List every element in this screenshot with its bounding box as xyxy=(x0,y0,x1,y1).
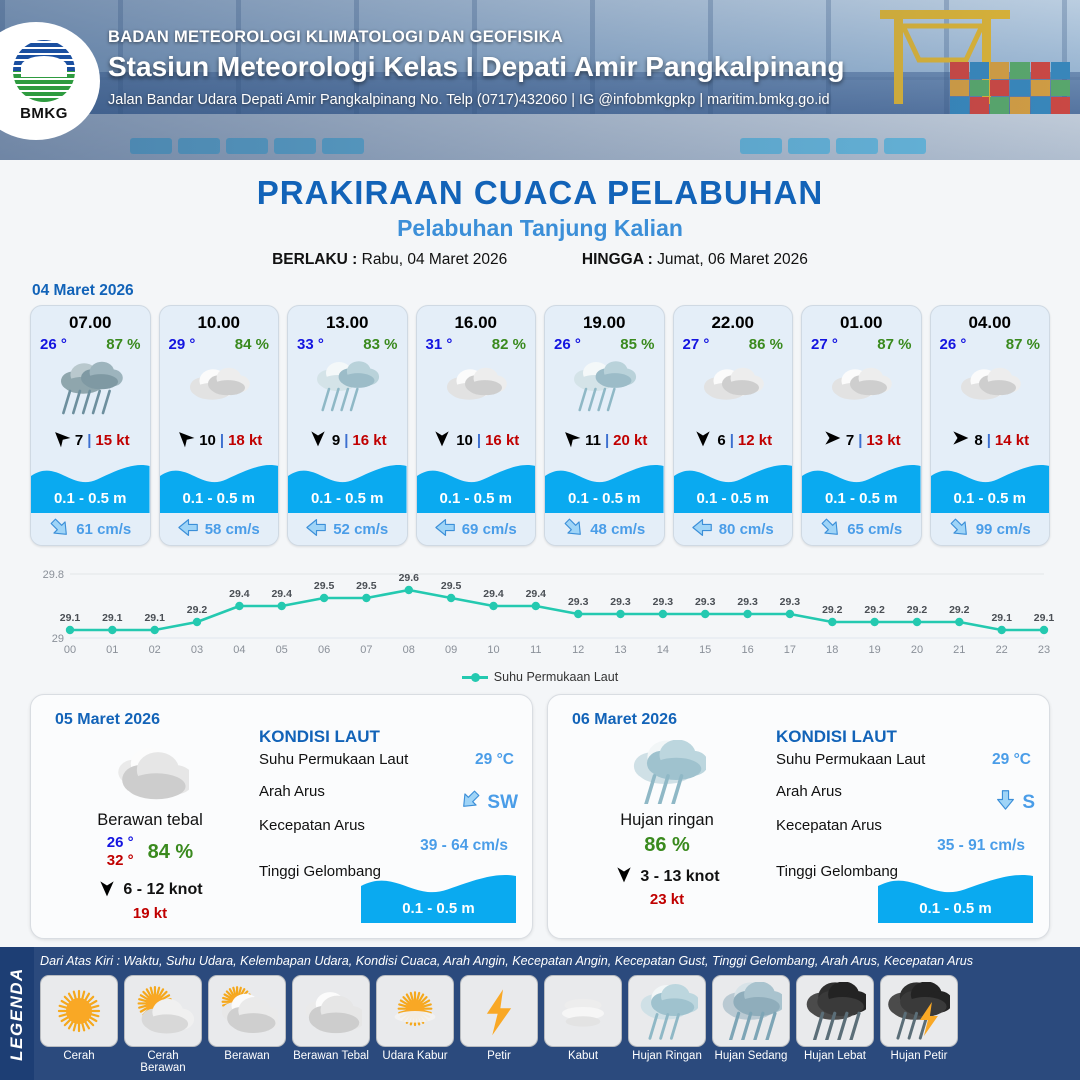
svg-text:29.2: 29.2 xyxy=(907,604,928,616)
card-wind-speed: 10 xyxy=(456,432,473,449)
legend-udara-kabur-icon xyxy=(376,975,454,1047)
hourly-card: 13.00 33 ° 83 % 9 | 16 kt xyxy=(287,305,408,546)
sst-chart: 29.82929.10029.10129.10229.20329.40429.4… xyxy=(26,556,1054,668)
card-humidity: 85 % xyxy=(620,336,654,353)
current-speed-row: Kecepatan Arus 35 - 91 cm/s xyxy=(776,817,1035,863)
card-temperature: 27 ° xyxy=(683,336,710,353)
card-humidity: 82 % xyxy=(492,336,526,353)
svg-text:29.3: 29.3 xyxy=(610,596,631,608)
card-wave: 0.1 - 0.5 m xyxy=(802,457,921,513)
card-wave: 0.1 - 0.5 m xyxy=(288,457,407,513)
station-name: Stasiun Meteorologi Kelas I Depati Amir … xyxy=(108,51,844,83)
panel-condition: Hujan ringan xyxy=(562,811,772,830)
sst-row: Suhu Permukaan Laut 29 °C xyxy=(259,751,518,783)
svg-text:01: 01 xyxy=(106,644,118,656)
svg-text:19: 19 xyxy=(868,644,880,656)
daily-forecast-panels: 05 Maret 2026 Berawan tebal 26 ° 32 ° 84… xyxy=(0,684,1080,939)
hourly-date-label: 04 Maret 2026 xyxy=(32,282,1080,300)
svg-text:29.4: 29.4 xyxy=(229,588,250,600)
card-current-speed: 48 cm/s xyxy=(590,521,645,538)
svg-text:29: 29 xyxy=(52,633,64,645)
wind-separator: | xyxy=(220,432,224,449)
panel-wind-direction-arrow-icon xyxy=(614,864,634,889)
page-title: PRAKIRAAN CUACA PELABUHAN xyxy=(0,174,1080,212)
wind-direction-arrow-icon xyxy=(822,428,842,452)
card-wave-height: 0.1 - 0.5 m xyxy=(931,490,1050,507)
card-current-speed: 80 cm/s xyxy=(719,521,774,538)
current-speed-value: 35 - 91 cm/s xyxy=(937,837,1025,855)
card-temp-hum-row: 29 ° 84 % xyxy=(160,333,279,353)
panel-current-arrow-icon xyxy=(995,789,1016,816)
panel-wind-range: 6 - 12 knot xyxy=(123,881,202,899)
svg-text:14: 14 xyxy=(657,644,669,656)
panel-sea-conditions: KONDISI LAUT Suhu Permukaan Laut 29 °C A… xyxy=(259,727,518,893)
sst-value: 29 °C xyxy=(992,751,1031,769)
card-weather-hujan-ringan-icon xyxy=(545,353,664,425)
legend-item-label: Kabut xyxy=(544,1050,622,1062)
svg-text:09: 09 xyxy=(445,644,457,656)
wind-direction-arrow-icon xyxy=(561,428,581,452)
card-wind-gust: 12 kt xyxy=(738,432,772,449)
card-weather-berawan-icon xyxy=(674,353,793,425)
current-speed-value: 39 - 64 cm/s xyxy=(420,837,508,855)
legend-note: Dari Atas Kiri : Waktu, Suhu Udara, Kele… xyxy=(40,954,973,968)
legend-hujan-ringan-icon xyxy=(628,975,706,1047)
card-time: 07.00 xyxy=(31,306,150,333)
panel-weather-block: Hujan ringan 86 % 3 - 13 knot 23 kt xyxy=(562,739,772,908)
card-current-speed: 99 cm/s xyxy=(976,521,1031,538)
legend-kabut-icon xyxy=(544,975,622,1047)
sst-row: Suhu Permukaan Laut 29 °C xyxy=(776,751,1035,783)
card-wind-row: 10 | 16 kt xyxy=(417,425,536,455)
panel-temp-range: 26 ° 32 ° xyxy=(107,834,134,871)
svg-text:29.4: 29.4 xyxy=(483,588,504,600)
panel-wave-height: 0.1 - 0.5 m xyxy=(361,900,516,917)
card-temperature: 29 ° xyxy=(169,336,196,353)
panel-wave-graphic: 0.1 - 0.5 m xyxy=(361,865,516,923)
card-wind-gust: 14 kt xyxy=(995,432,1029,449)
svg-text:21: 21 xyxy=(953,644,965,656)
bmkg-logo-emblem-icon xyxy=(13,40,75,102)
valid-until-value: Jumat, 06 Maret 2026 xyxy=(657,251,808,268)
card-wave-height: 0.1 - 0.5 m xyxy=(160,490,279,507)
panel-temp-humidity: 26 ° 32 ° 84 % xyxy=(45,834,255,871)
card-humidity: 87 % xyxy=(1006,336,1040,353)
panel-condition: Berawan tebal xyxy=(45,811,255,830)
legend-item-label: Hujan Petir xyxy=(880,1050,958,1062)
card-wind-speed: 7 xyxy=(75,432,83,449)
card-temp-hum-row: 27 ° 86 % xyxy=(674,333,793,353)
card-wind-speed: 7 xyxy=(846,432,854,449)
card-wind-speed: 9 xyxy=(332,432,340,449)
legend-bar: LEGENDA Dari Atas Kiri : Waktu, Suhu Uda… xyxy=(0,947,1080,1080)
card-wind-speed: 8 xyxy=(974,432,982,449)
legend-berawan-tebal-icon xyxy=(292,975,370,1047)
current-direction-label: Arah Arus xyxy=(259,783,325,800)
agency-name: BADAN METEOROLOGI KLIMATOLOGI DAN GEOFIS… xyxy=(108,28,844,47)
legend-hujan-sedang-icon xyxy=(712,975,790,1047)
wind-direction-arrow-icon xyxy=(308,428,328,452)
current-direction-label: Arah Arus xyxy=(776,783,842,800)
current-direction-value: S xyxy=(995,789,1035,816)
svg-text:29.4: 29.4 xyxy=(271,588,292,600)
legend-item: Berawan Tebal xyxy=(292,975,370,1074)
card-wind-gust: 13 kt xyxy=(866,432,900,449)
card-wave-height: 0.1 - 0.5 m xyxy=(288,490,407,507)
svg-text:03: 03 xyxy=(191,644,203,656)
legend-item-label: Hujan Lebat xyxy=(796,1050,874,1062)
card-temp-hum-row: 33 ° 83 % xyxy=(288,333,407,353)
card-current-row: 65 cm/s xyxy=(802,513,921,545)
panel-weather-hujan-ringan-icon xyxy=(562,739,772,805)
card-current-row: 69 cm/s xyxy=(417,513,536,545)
card-wave: 0.1 - 0.5 m xyxy=(931,457,1050,513)
card-humidity: 84 % xyxy=(235,336,269,353)
card-humidity: 87 % xyxy=(106,336,140,353)
legend-item: Hujan Petir xyxy=(880,975,958,1074)
card-wave: 0.1 - 0.5 m xyxy=(417,457,536,513)
card-wind-gust: 16 kt xyxy=(352,432,386,449)
wind-separator: | xyxy=(477,432,481,449)
page-subtitle: Pelabuhan Tanjung Kalian xyxy=(0,215,1080,242)
current-direction-arrow-icon xyxy=(178,517,199,542)
svg-text:07: 07 xyxy=(360,644,372,656)
legend-item: Udara Kabur xyxy=(376,975,454,1074)
card-temp-hum-row: 31 ° 82 % xyxy=(417,333,536,353)
bmkg-logo-text: BMKG xyxy=(20,105,68,122)
legend-cerah-berawan-icon xyxy=(124,975,202,1047)
panel-date: 05 Maret 2026 xyxy=(55,711,160,729)
svg-text:06: 06 xyxy=(318,644,330,656)
card-time: 22.00 xyxy=(674,306,793,333)
current-speed-label: Kecepatan Arus xyxy=(776,817,882,834)
card-current-row: 58 cm/s xyxy=(160,513,279,545)
page-header: BMKG BADAN METEOROLOGI KLIMATOLOGI DAN G… xyxy=(0,0,1080,160)
current-speed-label: Kecepatan Arus xyxy=(259,817,365,834)
panel-date: 06 Maret 2026 xyxy=(572,711,677,729)
svg-text:13: 13 xyxy=(614,644,626,656)
panel-weather-berawan-tebal-icon xyxy=(45,739,255,805)
svg-text:04: 04 xyxy=(233,644,245,656)
panel-wave-height: 0.1 - 0.5 m xyxy=(878,900,1033,917)
svg-text:29.1: 29.1 xyxy=(1034,612,1054,624)
card-wave: 0.1 - 0.5 m xyxy=(160,457,279,513)
legend-berawan-icon xyxy=(208,975,286,1047)
validity-range: BERLAKU : Rabu, 04 Maret 2026 HINGGA : J… xyxy=(0,251,1080,269)
svg-text:29.2: 29.2 xyxy=(822,604,843,616)
svg-text:29.5: 29.5 xyxy=(314,580,335,592)
card-humidity: 86 % xyxy=(749,336,783,353)
card-weather-berawan-icon xyxy=(931,353,1050,425)
current-direction-row: Arah Arus S xyxy=(776,783,1035,817)
card-temperature: 26 ° xyxy=(940,336,967,353)
chart-legend-marker-icon xyxy=(462,676,488,679)
card-wave: 0.1 - 0.5 m xyxy=(31,457,150,513)
wind-separator: | xyxy=(730,432,734,449)
card-wind-gust: 20 kt xyxy=(613,432,647,449)
card-wind-gust: 18 kt xyxy=(228,432,262,449)
current-direction-arrow-icon xyxy=(692,517,713,542)
svg-text:29.6: 29.6 xyxy=(399,572,420,584)
wind-direction-arrow-icon xyxy=(950,428,970,452)
card-temperature: 31 ° xyxy=(426,336,453,353)
hourly-card: 19.00 26 ° 85 % 11 | 20 kt xyxy=(544,305,665,546)
card-weather-berawan-icon xyxy=(802,353,921,425)
card-temperature: 26 ° xyxy=(40,336,67,353)
legend-petir-icon xyxy=(460,975,538,1047)
hourly-card: 16.00 31 ° 82 % 10 | 16 kt xyxy=(416,305,537,546)
svg-text:29.2: 29.2 xyxy=(864,604,885,616)
svg-text:29.8: 29.8 xyxy=(43,569,64,581)
chart-legend-label: Suhu Permukaan Laut xyxy=(494,670,618,684)
svg-text:08: 08 xyxy=(403,644,415,656)
card-wave-height: 0.1 - 0.5 m xyxy=(802,490,921,507)
svg-text:29.3: 29.3 xyxy=(653,596,674,608)
card-time: 04.00 xyxy=(931,306,1050,333)
panel-wind: 3 - 13 knot xyxy=(562,864,772,889)
svg-text:16: 16 xyxy=(741,644,753,656)
legend-items: Cerah Cerah Berawan Berawan xyxy=(40,975,1074,1074)
wind-separator: | xyxy=(605,432,609,449)
sst-label: Suhu Permukaan Laut xyxy=(259,751,408,768)
daily-panel: 05 Maret 2026 Berawan tebal 26 ° 32 ° 84… xyxy=(30,694,533,939)
svg-text:29.5: 29.5 xyxy=(441,580,462,592)
valid-until-label: HINGGA : xyxy=(582,251,653,268)
card-time: 16.00 xyxy=(417,306,536,333)
card-weather-hujan-ringan-icon xyxy=(288,353,407,425)
valid-from-label: BERLAKU : xyxy=(272,251,357,268)
legend-item-label: Hujan Sedang xyxy=(712,1050,790,1062)
svg-text:18: 18 xyxy=(826,644,838,656)
panel-gust: 19 kt xyxy=(45,905,255,922)
hourly-forecast-cards: 07.00 26 ° 87 % 7 | 15 kt xyxy=(0,305,1080,546)
current-direction-row: Arah Arus SW xyxy=(259,783,518,817)
legend-item: Cerah Berawan xyxy=(124,975,202,1074)
legend-item: Cerah xyxy=(40,975,118,1074)
svg-text:29.3: 29.3 xyxy=(737,596,758,608)
card-wave-height: 0.1 - 0.5 m xyxy=(31,490,150,507)
svg-text:11: 11 xyxy=(530,644,541,656)
panel-temp-humidity: 86 % xyxy=(562,834,772,857)
svg-text:29.1: 29.1 xyxy=(102,612,123,624)
svg-text:23: 23 xyxy=(1038,644,1050,656)
legend-item-label: Berawan xyxy=(208,1050,286,1062)
svg-text:05: 05 xyxy=(276,644,288,656)
current-direction-arrow-icon xyxy=(563,517,584,542)
current-direction-arrow-icon xyxy=(820,517,841,542)
svg-text:29.5: 29.5 xyxy=(356,580,377,592)
legend-side-title: LEGENDA xyxy=(0,947,34,1080)
card-temp-hum-row: 27 ° 87 % xyxy=(802,333,921,353)
card-temp-hum-row: 26 ° 85 % xyxy=(545,333,664,353)
card-wave: 0.1 - 0.5 m xyxy=(674,457,793,513)
svg-text:29.4: 29.4 xyxy=(526,588,547,600)
card-wind-row: 9 | 16 kt xyxy=(288,425,407,455)
card-temperature: 33 ° xyxy=(297,336,324,353)
card-wind-speed: 10 xyxy=(199,432,216,449)
card-time: 01.00 xyxy=(802,306,921,333)
card-wind-speed: 11 xyxy=(585,432,601,449)
card-current-row: 52 cm/s xyxy=(288,513,407,545)
legend-hujan-lebat-icon xyxy=(796,975,874,1047)
card-time: 13.00 xyxy=(288,306,407,333)
legend-item: Berawan xyxy=(208,975,286,1074)
card-wind-row: 8 | 14 kt xyxy=(931,425,1050,455)
card-humidity: 83 % xyxy=(363,336,397,353)
current-direction-arrow-icon xyxy=(306,517,327,542)
card-humidity: 87 % xyxy=(877,336,911,353)
panel-wave-graphic: 0.1 - 0.5 m xyxy=(878,865,1033,923)
panel-humidity: 86 % xyxy=(644,834,690,857)
current-direction-arrow-icon xyxy=(949,517,970,542)
current-direction-arrow-icon xyxy=(435,517,456,542)
svg-text:29.3: 29.3 xyxy=(695,596,716,608)
panel-gust: 23 kt xyxy=(562,891,772,908)
current-speed-row: Kecepatan Arus 39 - 64 cm/s xyxy=(259,817,518,863)
infographic-page: BMKG BADAN METEOROLOGI KLIMATOLOGI DAN G… xyxy=(0,0,1080,1080)
wind-separator: | xyxy=(344,432,348,449)
card-current-speed: 52 cm/s xyxy=(333,521,388,538)
card-wave-height: 0.1 - 0.5 m xyxy=(674,490,793,507)
card-wind-speed: 6 xyxy=(717,432,725,449)
legend-item: Hujan Ringan xyxy=(628,975,706,1074)
card-current-speed: 61 cm/s xyxy=(76,521,131,538)
wind-direction-arrow-icon xyxy=(432,428,452,452)
card-temp-hum-row: 26 ° 87 % xyxy=(31,333,150,353)
card-current-row: 80 cm/s xyxy=(674,513,793,545)
legend-item: Kabut xyxy=(544,975,622,1074)
legend-item: Petir xyxy=(460,975,538,1074)
legend-item-label: Petir xyxy=(460,1050,538,1062)
hourly-card: 07.00 26 ° 87 % 7 | 15 kt xyxy=(30,305,151,546)
wind-separator: | xyxy=(858,432,862,449)
svg-text:29.3: 29.3 xyxy=(780,596,801,608)
card-temperature: 27 ° xyxy=(811,336,838,353)
svg-text:00: 00 xyxy=(64,644,76,656)
legend-hujan-petir-icon xyxy=(880,975,958,1047)
svg-text:29.1: 29.1 xyxy=(60,612,81,624)
panel-temp-max: 32 ° xyxy=(107,852,134,870)
card-wave-height: 0.1 - 0.5 m xyxy=(545,490,664,507)
hourly-card: 04.00 26 ° 87 % 8 | 14 kt xyxy=(930,305,1051,546)
card-wave-height: 0.1 - 0.5 m xyxy=(417,490,536,507)
sst-value: 29 °C xyxy=(475,751,514,769)
title-block: PRAKIRAAN CUACA PELABUHAN Pelabuhan Tanj… xyxy=(0,160,1080,269)
card-wind-gust: 16 kt xyxy=(485,432,519,449)
card-weather-berawan-icon xyxy=(417,353,536,425)
svg-text:15: 15 xyxy=(699,644,711,656)
card-temperature: 26 ° xyxy=(554,336,581,353)
svg-text:17: 17 xyxy=(784,644,796,656)
legend-item-label: Cerah Berawan xyxy=(124,1050,202,1074)
current-direction-arrow-icon xyxy=(49,517,70,542)
legend-cerah-icon xyxy=(40,975,118,1047)
svg-text:22: 22 xyxy=(996,644,1008,656)
card-current-row: 61 cm/s xyxy=(31,513,150,545)
svg-text:29.1: 29.1 xyxy=(144,612,165,624)
panel-temp-min: 26 ° xyxy=(107,834,134,852)
valid-from-value: Rabu, 04 Maret 2026 xyxy=(362,251,508,268)
panel-wind-direction-arrow-icon xyxy=(97,878,117,903)
svg-text:29.2: 29.2 xyxy=(187,604,208,616)
hourly-card: 01.00 27 ° 87 % 7 | 13 kt xyxy=(801,305,922,546)
sea-conditions-header: KONDISI LAUT xyxy=(259,727,518,747)
svg-text:29.1: 29.1 xyxy=(991,612,1012,624)
card-wind-row: 7 | 15 kt xyxy=(31,425,150,455)
legend-item: Hujan Sedang xyxy=(712,975,790,1074)
card-current-speed: 65 cm/s xyxy=(847,521,902,538)
legend-item-label: Berawan Tebal xyxy=(292,1050,370,1062)
panel-weather-block: Berawan tebal 26 ° 32 ° 84 % 6 - 12 knot… xyxy=(45,739,255,922)
card-weather-berawan-icon xyxy=(160,353,279,425)
svg-text:02: 02 xyxy=(149,644,161,656)
svg-text:12: 12 xyxy=(572,644,584,656)
panel-wind-range: 3 - 13 knot xyxy=(640,868,719,886)
legend-item: Hujan Lebat xyxy=(796,975,874,1074)
panel-sea-conditions: KONDISI LAUT Suhu Permukaan Laut 29 °C A… xyxy=(776,727,1035,893)
wind-direction-arrow-icon xyxy=(175,428,195,452)
wind-direction-arrow-icon xyxy=(51,428,71,452)
card-current-row: 99 cm/s xyxy=(931,513,1050,545)
panel-humidity: 84 % xyxy=(148,841,194,864)
wind-direction-arrow-icon xyxy=(693,428,713,452)
chart-legend: Suhu Permukaan Laut xyxy=(0,670,1080,684)
card-time: 10.00 xyxy=(160,306,279,333)
card-wave: 0.1 - 0.5 m xyxy=(545,457,664,513)
card-wind-row: 10 | 18 kt xyxy=(160,425,279,455)
hourly-card: 22.00 27 ° 86 % 6 | 12 kt xyxy=(673,305,794,546)
card-weather-hujan-lebat-icon xyxy=(31,353,150,425)
panel-current-arrow-icon xyxy=(460,789,481,816)
card-current-row: 48 cm/s xyxy=(545,513,664,545)
card-wind-row: 6 | 12 kt xyxy=(674,425,793,455)
card-current-speed: 58 cm/s xyxy=(205,521,260,538)
svg-text:29.3: 29.3 xyxy=(568,596,589,608)
card-current-speed: 69 cm/s xyxy=(462,521,517,538)
card-time: 19.00 xyxy=(545,306,664,333)
legend-item-label: Udara Kabur xyxy=(376,1050,454,1062)
card-wind-row: 11 | 20 kt xyxy=(545,425,664,455)
header-text-block: BADAN METEOROLOGI KLIMATOLOGI DAN GEOFIS… xyxy=(108,28,844,108)
daily-panel: 06 Maret 2026 Hujan ringan 86 % 3 - 13 k… xyxy=(547,694,1050,939)
wind-separator: | xyxy=(87,432,91,449)
legend-item-label: Cerah xyxy=(40,1050,118,1062)
svg-text:29.2: 29.2 xyxy=(949,604,970,616)
card-wind-gust: 15 kt xyxy=(95,432,129,449)
sea-conditions-header: KONDISI LAUT xyxy=(776,727,1035,747)
current-direction-value: SW xyxy=(460,789,518,816)
contact-line: Jalan Bandar Udara Depati Amir Pangkalpi… xyxy=(108,92,844,108)
sst-label: Suhu Permukaan Laut xyxy=(776,751,925,768)
hourly-card: 10.00 29 ° 84 % 10 | 18 kt xyxy=(159,305,280,546)
panel-wind: 6 - 12 knot xyxy=(45,878,255,903)
card-temp-hum-row: 26 ° 87 % xyxy=(931,333,1050,353)
svg-text:10: 10 xyxy=(487,644,499,656)
svg-text:20: 20 xyxy=(911,644,923,656)
legend-item-label: Hujan Ringan xyxy=(628,1050,706,1062)
card-wind-row: 7 | 13 kt xyxy=(802,425,921,455)
wind-separator: | xyxy=(987,432,991,449)
